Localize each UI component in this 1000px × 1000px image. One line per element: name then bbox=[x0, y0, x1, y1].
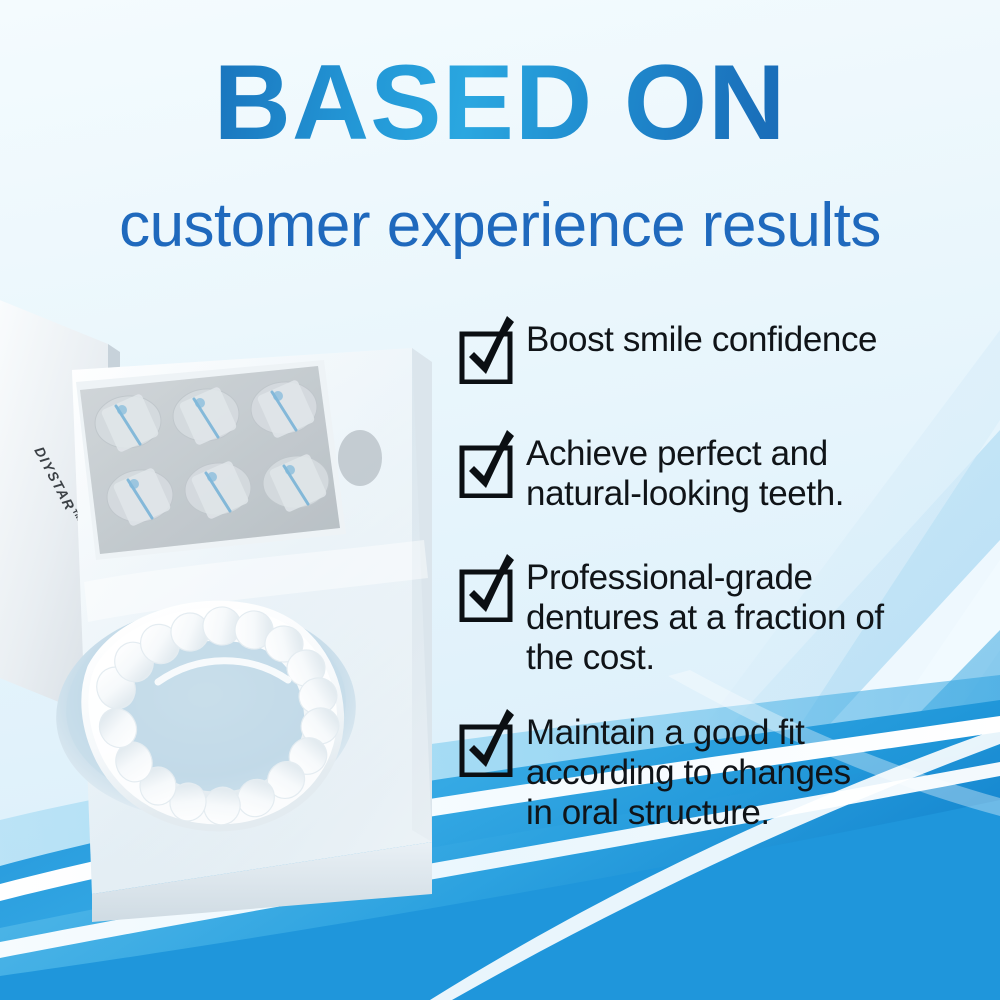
list-item: Professional-grade dentures at a fractio… bbox=[452, 556, 982, 678]
product-photo: DIYSTAR™ bbox=[0, 282, 458, 922]
page-title: BASED ON bbox=[0, 48, 1000, 157]
page-subtitle: customer experience results bbox=[0, 190, 1000, 261]
list-item: Achieve perfect and natural-looking teet… bbox=[452, 432, 982, 514]
benefits-list: Boost smile confidence Achieve perfect a… bbox=[452, 318, 982, 833]
list-item: Maintain a good fit according to changes… bbox=[452, 711, 982, 833]
benefit-text: Professional-grade dentures at a fractio… bbox=[526, 556, 884, 678]
promo-banner: BASED ON customer experience results bbox=[0, 0, 1000, 1000]
tray-tab bbox=[338, 430, 382, 486]
benefit-text: Boost smile confidence bbox=[526, 318, 877, 360]
benefit-text: Maintain a good fit according to changes… bbox=[526, 711, 851, 833]
list-item: Boost smile confidence bbox=[452, 318, 982, 376]
benefit-text: Achieve perfect and natural-looking teet… bbox=[526, 432, 844, 514]
checkbox-checked-icon bbox=[452, 717, 504, 769]
checkbox-checked-icon bbox=[452, 438, 504, 490]
checkbox-checked-icon bbox=[452, 324, 504, 376]
checkbox-checked-icon bbox=[452, 562, 504, 614]
